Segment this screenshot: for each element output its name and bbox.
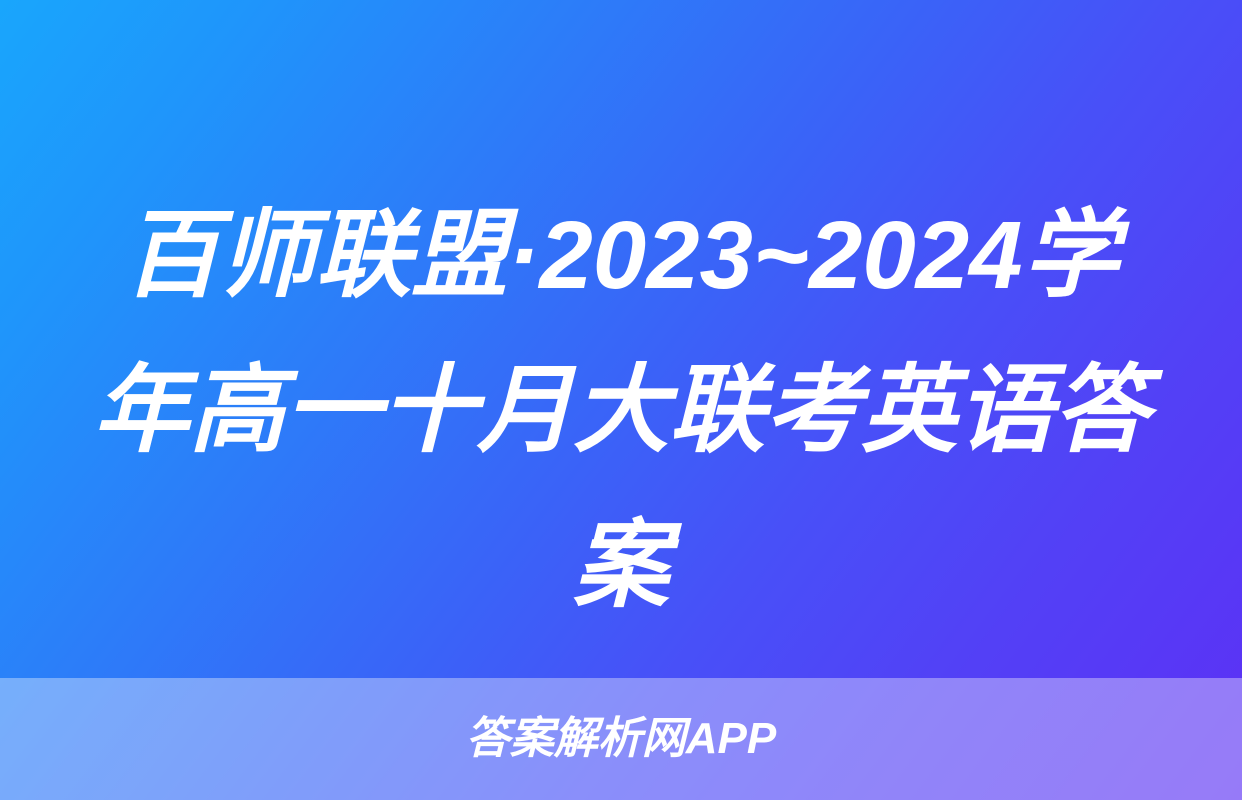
title-line-2: 年高一十月大联考英语答 bbox=[88, 333, 1154, 488]
footer-watermark-band: 答案解析网APP bbox=[0, 678, 1242, 800]
app-watermark-label: 答案解析网APP bbox=[466, 717, 776, 761]
page-title: 百师联盟·2023~2024学 年高一十月大联考英语答 案 bbox=[88, 178, 1154, 643]
promo-title-card: 百师联盟·2023~2024学 年高一十月大联考英语答 案 答案解析网APP bbox=[0, 0, 1242, 800]
title-line-3: 案 bbox=[88, 488, 1154, 643]
title-line-1: 百师联盟·2023~2024学 bbox=[88, 178, 1154, 333]
